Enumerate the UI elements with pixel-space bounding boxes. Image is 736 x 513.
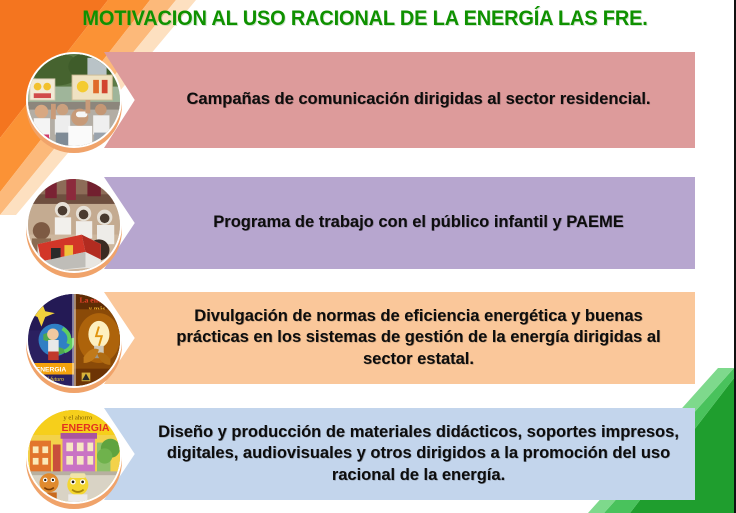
photo-2-wrapper — [26, 177, 122, 273]
content-row: Programa de trabajo con el público infan… — [0, 177, 736, 277]
photo-children-with-red-box — [26, 177, 122, 273]
banner-1: Campañas de comunicación dirigidas al se… — [104, 52, 695, 148]
photo-cartoon-energy-booklet: y el ahorro ENERGIA — [26, 408, 122, 504]
content-row: Divulgación de normas de eficiencia ener… — [0, 292, 736, 392]
page-title: MOTIVACION AL USO RACIONAL DE LA ENERGÍA… — [26, 6, 705, 31]
photo-children-marching-with-posters — [26, 52, 122, 148]
svg-text:ENERGIA: ENERGIA — [36, 367, 67, 374]
banner-3: Divulgación de normas de eficiencia ener… — [104, 292, 695, 384]
banner-2-text: Programa de trabajo con el público infan… — [156, 212, 681, 233]
banner-1-text: Campañas de comunicación dirigidas al se… — [156, 89, 681, 110]
photo-3-wrapper: ENERGIA del futuro La energía y más — [26, 292, 122, 388]
banner-4-text: Diseño y producción de materiales didáct… — [156, 422, 681, 485]
banner-3-text: Divulgación de normas de eficiencia ener… — [156, 306, 681, 369]
banner-4: Diseño y producción de materiales didáct… — [104, 408, 695, 500]
photo-4-wrapper: y el ahorro ENERGIA — [26, 408, 122, 504]
photo-1-wrapper — [26, 52, 122, 148]
svg-text:La energía: La energía — [79, 296, 114, 305]
banner-2: Programa de trabajo con el público infan… — [104, 177, 695, 269]
svg-text:y el ahorro: y el ahorro — [63, 415, 93, 422]
content-row: Diseño y producción de materiales didáct… — [0, 408, 736, 508]
svg-text:ENERGIA: ENERGIA — [62, 422, 110, 434]
content-row: Campañas de comunicación dirigidas al se… — [0, 52, 736, 152]
slide-canvas: MOTIVACION AL USO RACIONAL DE LA ENERGÍA… — [0, 0, 736, 513]
photo-energy-brochure-covers: ENERGIA del futuro La energía y más — [26, 292, 122, 388]
